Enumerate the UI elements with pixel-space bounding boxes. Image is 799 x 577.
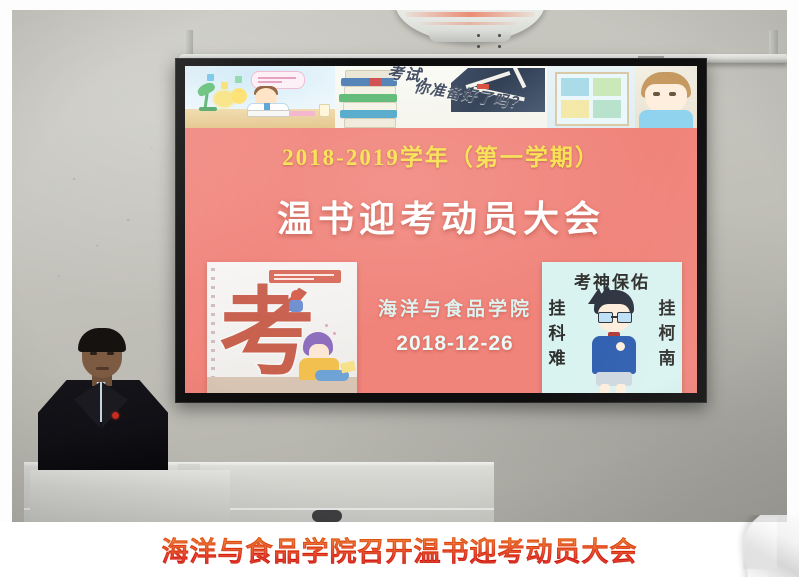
screen-mount-bracket-left	[184, 30, 193, 56]
projection-screen: 考试， 你准备好了吗？	[175, 58, 707, 403]
speaker-mouth	[96, 367, 109, 370]
red-bookmark	[369, 78, 381, 86]
banner-panel-window	[547, 66, 635, 128]
decor-dot	[325, 324, 328, 327]
bird-figure	[289, 290, 305, 312]
boy-tie	[264, 103, 270, 110]
child-body	[639, 110, 693, 128]
conan-character	[586, 290, 642, 390]
speaker-eye-left	[90, 352, 97, 355]
screen-mount-bracket-right	[769, 30, 778, 56]
caption-text: 海洋与食品学院召开温书迎考动员大会	[162, 530, 638, 569]
wall-screw	[477, 34, 480, 37]
wall-screw	[498, 34, 501, 37]
photo-page: 考试， 你准备好了吗？	[0, 0, 799, 577]
photograph: 考试， 你准备好了吗？	[12, 10, 787, 522]
banner-panel-child	[635, 66, 697, 128]
slide-date: 2018-12-26	[365, 332, 545, 356]
wall-screw	[498, 45, 501, 48]
slide-main-title: 温书迎考动员大会	[185, 190, 697, 242]
presentation-slide: 考试， 你准备好了吗？	[185, 66, 697, 393]
slide-left-illustration-card: 考	[207, 262, 357, 393]
speaker-eye-right	[107, 352, 114, 355]
conan-right-text: 挂柯南	[656, 296, 678, 371]
child-eye-right	[669, 92, 676, 96]
pencil-cup	[319, 104, 330, 117]
pink-notebook	[289, 111, 315, 116]
decor-dot	[333, 332, 336, 335]
desk-object	[312, 510, 342, 522]
slide-academic-year: 2018-2019学年（第一学期）	[185, 138, 697, 172]
open-book	[247, 110, 291, 117]
conan-left-text: 挂科难	[546, 296, 568, 371]
decor-square	[221, 82, 228, 89]
window-graphic	[555, 72, 629, 126]
desk-lamp-base	[199, 107, 217, 111]
decor-square	[207, 74, 214, 81]
speaker-person	[30, 320, 190, 522]
podium	[30, 470, 230, 522]
banner-panel-books-handwriting: 考试， 你准备好了吗？	[335, 66, 547, 128]
lamp-stripe	[405, 12, 535, 17]
caption-bar: 海洋与食品学院召开温书迎考动员大会	[0, 522, 799, 577]
lamp-glow	[213, 90, 235, 108]
wall-screw	[477, 45, 480, 48]
speaker-lapel-badge	[112, 412, 119, 419]
speaker-hair	[78, 328, 126, 352]
decor-square	[235, 76, 242, 83]
child-eye-left	[653, 92, 660, 96]
slide-banner-image: 考试， 你准备好了吗？	[185, 66, 697, 128]
slide-right-illustration-card: 考神保佑 挂科难 挂柯南	[542, 262, 682, 393]
lamp-stripe-secondary	[421, 22, 517, 25]
notepad	[340, 361, 356, 374]
banner-panel-boy-studying	[185, 66, 335, 128]
slide-department: 海洋与食品学院	[365, 294, 545, 321]
